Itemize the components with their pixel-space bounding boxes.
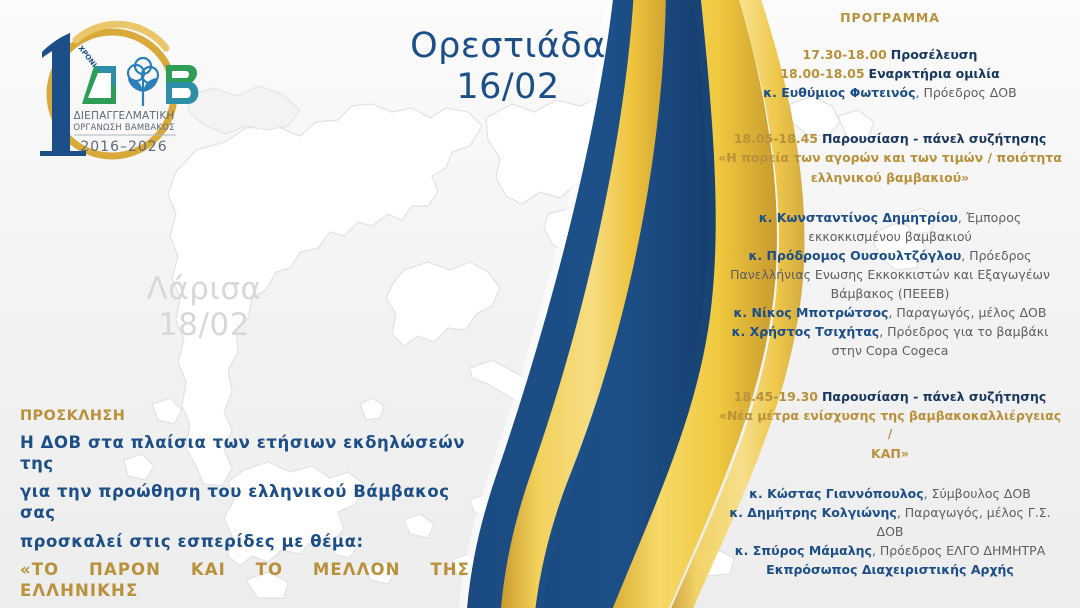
program-speaker: κ. Δημήτρης Κολγιώνης, Παραγωγός, μέλος … xyxy=(716,503,1064,541)
invitation-line: για την προώθηση του ελληνικού Βάμβακος … xyxy=(20,482,470,523)
city-date: 16/02 xyxy=(408,67,608,108)
city-name: Λάρισα xyxy=(147,271,262,307)
invitation-line: προσκαλεί στις εσπερίδες με θέμα: xyxy=(20,532,470,553)
entry-time: 18.00-18.05 xyxy=(780,66,864,81)
entry-time: 18.45-19.30 xyxy=(734,389,818,404)
speaker-name: κ. Κωνσταντίνος Δημητρίου xyxy=(759,210,958,225)
speaker-role: , Πρόεδρος ΔΟΒ xyxy=(916,85,1017,100)
speaker-name: κ. Σπύρος Μάμαλης xyxy=(735,543,872,558)
logo-period: 2016–2026 xyxy=(80,139,167,155)
program-entry: 18.00-18.05 Εναρκτήρια ομιλία xyxy=(716,64,1064,83)
program-speaker: Εκπρόσωπος Διαχειριστικής Αρχής xyxy=(716,560,1064,579)
speaker-name: κ. Χρήστος Τσιχήτας xyxy=(732,324,880,339)
invitation-theme: «ΤΟ ΠΑΡΟΝ ΚΑΙ ΤΟ ΜΕΛΛΟΝ ΤΗΣ ΕΛΛΗΝΙΚΗΣ ΒΑ… xyxy=(20,560,470,608)
program-entry: 18.45-19.30 Παρουσίαση - πάνελ συζήτησης xyxy=(716,387,1064,406)
speaker-name: Εκπρόσωπος Διαχειριστικής Αρχής xyxy=(766,562,1014,577)
program-speaker: κ. Νίκος Μποτρώτσος, Παραγωγός, μέλος ΔΟ… xyxy=(716,303,1064,322)
speaker-name: κ. Ευθύμιος Φωτεινός xyxy=(763,85,915,100)
entry-time: 17.30-18.00 xyxy=(803,47,887,62)
program-speaker: κ. Πρόδρομος Ουσουλτζόγλου, Πρόεδρος Παν… xyxy=(716,246,1064,303)
spacer xyxy=(700,360,1080,387)
dov-anniversary-logo: ΧΡΟΝΙΑ ΔΙΕΠΑΓΓΕΛΜΑΤΙΚΗ ΟΡΓΑΝΩ xyxy=(16,18,231,168)
entry-title: Παρουσίαση - πάνελ συζήτησης xyxy=(822,389,1046,404)
invitation-line: Η ΔΟΒ στα πλαίσια των ετήσιων εκδηλώσεών… xyxy=(20,433,470,474)
program-entry: 17.30-18.00 Προσέλευση xyxy=(716,45,1064,64)
logo-line2: ΟΡΓΑΝΩΣΗ ΒΑΜΒΑΚΟΣ xyxy=(73,123,174,133)
speaker-role: , Σύμβουλος ΔΟΒ xyxy=(924,486,1031,501)
speaker-name: κ. Κώστας Γιαννόπουλος xyxy=(749,486,923,501)
city-label-orestiada: Ορεστιάδα 16/02 xyxy=(408,26,608,107)
program-theme: ελληνικού βαμβακιού» xyxy=(716,169,1064,188)
spacer xyxy=(700,102,1080,129)
city-name: Ορεστιάδα xyxy=(410,26,606,66)
city-label-larisa: Λάρισα 18/02 xyxy=(104,272,304,344)
logo-line1: ΔΙΕΠΑΓΓΕΛΜΑΤΙΚΗ xyxy=(73,110,174,122)
speaker-role: , Πρόεδρος ΕΛΓΟ ΔΗΜΗΤΡΑ xyxy=(872,543,1045,558)
poster-canvas: ΧΡΟΝΙΑ ΔΙΕΠΑΓΓΕΛΜΑΤΙΚΗ ΟΡΓΑΝΩ xyxy=(0,0,1080,608)
program-theme: «Η πορεία των αγορών και των τιμών / ποι… xyxy=(716,149,1064,168)
invitation-theme-line: «ΤΟ ΠΑΡΟΝ ΚΑΙ ΤΟ ΜΕΛΛΟΝ ΤΗΣ ΕΛΛΗΝΙΚΗΣ xyxy=(20,560,470,601)
program-panel: ΠΡΟΓΡΑΜΜΑ 17.30-18.00 Προσέλευση 18.00-1… xyxy=(700,0,1080,608)
speaker-role: , Παραγωγός, μέλος Γ.Σ. ΔΟΒ xyxy=(877,505,1051,539)
entry-title: Παρουσίαση - πάνελ συζήτησης xyxy=(822,131,1046,146)
speaker-role: , Παραγωγός, μέλος ΔΟΒ xyxy=(888,305,1046,320)
spacer xyxy=(700,464,1080,484)
program-theme: «Νέα μέτρα ενίσχυσης της βαμβακοκαλλιέργ… xyxy=(716,407,1064,445)
city-date: 18/02 xyxy=(104,308,304,344)
invitation-heading: ΠΡΟΣΚΛΗΣΗ xyxy=(20,408,470,424)
entry-title: Προσέλευση xyxy=(891,47,978,62)
invitation-body: Η ΔΟΒ στα πλαίσια των ετήσιων εκδηλώσεών… xyxy=(20,433,470,552)
spacer xyxy=(700,579,1080,606)
speaker-name: κ. Δημήτρης Κολγιώνης xyxy=(729,505,897,520)
program-entry: 18.05-18.45 Παρουσίαση - πάνελ συζήτησης xyxy=(716,129,1064,148)
entry-time: 18.05-18.45 xyxy=(734,131,818,146)
program-speaker: κ. Ευθύμιος Φωτεινός, Πρόεδρος ΔΟΒ xyxy=(716,83,1064,102)
speaker-name: κ. Πρόδρομος Ουσουλτζόγλου xyxy=(748,248,961,263)
program-speaker: κ. Χρήστος Τσιχήτας, Πρόεδρος για το βαμ… xyxy=(716,322,1064,360)
program-speaker: κ. Κωνσταντίνος Δημητρίου, Έμπορος εκκοκ… xyxy=(716,208,1064,246)
invitation-block: ΠΡΟΣΚΛΗΣΗ Η ΔΟΒ στα πλαίσια των ετήσιων … xyxy=(20,408,470,608)
spacer xyxy=(700,188,1080,208)
program-theme: ΚΑΠ» xyxy=(716,445,1064,464)
speaker-name: κ. Νίκος Μποτρώτσος xyxy=(734,305,889,320)
program-title: ΠΡΟΓΡΑΜΜΑ xyxy=(700,10,1080,25)
program-speaker: κ. Σπύρος Μάμαλης, Πρόεδρος ΕΛΓΟ ΔΗΜΗΤΡΑ xyxy=(716,541,1064,560)
entry-title: Εναρκτήρια ομιλία xyxy=(869,66,1000,81)
program-speaker: κ. Κώστας Γιαννόπουλος, Σύμβουλος ΔΟΒ xyxy=(716,484,1064,503)
